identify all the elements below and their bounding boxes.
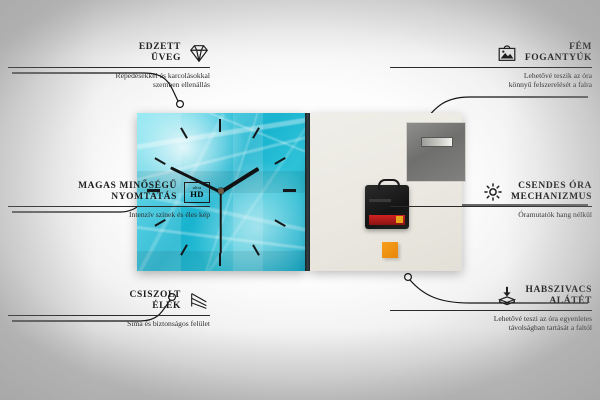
ultra-hd-big-text: HD [190, 190, 204, 199]
feature-silent-mechanism: CSENDES ÓRA MECHANIZMUS Óramutatók hang … [390, 181, 592, 219]
infographic-canvas: EDZETT ÜVEG Repedésekkel és karcolásokka… [0, 0, 600, 400]
feature-title-line1: EDZETT [139, 42, 181, 53]
mechanism-detail [369, 199, 391, 202]
feature-title-line2: ALÁTÉT [525, 296, 592, 307]
feature-title-line1: MAGAS MINŐSÉGŰ [78, 181, 177, 192]
feature-divider [8, 67, 210, 68]
hanger-slot [421, 137, 453, 147]
feature-desc-line1: Óramutatók hang nélkül [390, 210, 592, 219]
feature-high-quality-print: MAGAS MINŐSÉGŰ NYOMTATÁS ultra HD Intenz… [8, 181, 210, 219]
feature-title-line2: NYOMTATÁS [78, 192, 177, 203]
polished-edges-icon [188, 290, 210, 312]
feature-title-line1: FÉM [525, 42, 592, 53]
diamond-icon [188, 42, 210, 64]
wire-dot-foam [405, 274, 412, 281]
feature-metal-handles: FÉM FOGANTYÚK Lehetővé teszik az óra kön… [390, 42, 592, 90]
clock-center-cap [218, 188, 224, 194]
feature-title-line1: CSENDES ÓRA [511, 181, 592, 192]
foam-pad-icon [496, 285, 518, 307]
metal-hanger-plate [406, 122, 466, 182]
feature-desc-line2: távolságban tartását a faltól [390, 323, 592, 332]
feature-desc-line1: Lehetővé teszik az óra [390, 71, 592, 80]
picture-hanger-icon [496, 42, 518, 64]
feature-title-line1: HABSZIVACS [525, 285, 592, 296]
gear-icon [482, 181, 504, 203]
feature-desc-line1: Sima és biztonságos felület [8, 319, 210, 328]
feature-desc-line1: Intenzív színek és éles kép [8, 210, 210, 219]
feature-tempered-glass: EDZETT ÜVEG Repedésekkel és karcolásokka… [8, 42, 210, 90]
feature-desc-line1: Repedésekkel és karcolásokkal [8, 71, 210, 80]
foam-spacer-pad [382, 242, 398, 258]
feature-foam-backing: HABSZIVACS ALÁTÉT Lehetővé teszi az óra … [390, 285, 592, 333]
feature-title-line2: MECHANIZMUS [511, 192, 592, 203]
feature-divider [8, 206, 210, 207]
feature-divider [390, 67, 592, 68]
feature-desc-line2: könnyű felszerelését a falra [390, 80, 592, 89]
feature-title-line2: FOGANTYÚK [525, 53, 592, 64]
ultra-hd-icon: ultra HD [184, 182, 210, 203]
feature-divider [390, 310, 592, 311]
wire-dot-tempered-glass [177, 101, 184, 108]
feature-desc-line1: Lehetővé teszi az óra egyenletes [390, 314, 592, 323]
feature-divider [8, 315, 210, 316]
feature-desc-line2: szemben ellenállás [8, 80, 210, 89]
feature-title-line1: CSISZOLT [130, 290, 181, 301]
feature-title-line2: ÜVEG [139, 53, 181, 64]
feature-title-line2: ÉLEK [130, 301, 181, 312]
feature-polished-edges: CSISZOLT ÉLEK Sima és biztonságos felüle… [8, 290, 210, 328]
feature-divider [390, 206, 592, 207]
second-hand [220, 192, 222, 254]
